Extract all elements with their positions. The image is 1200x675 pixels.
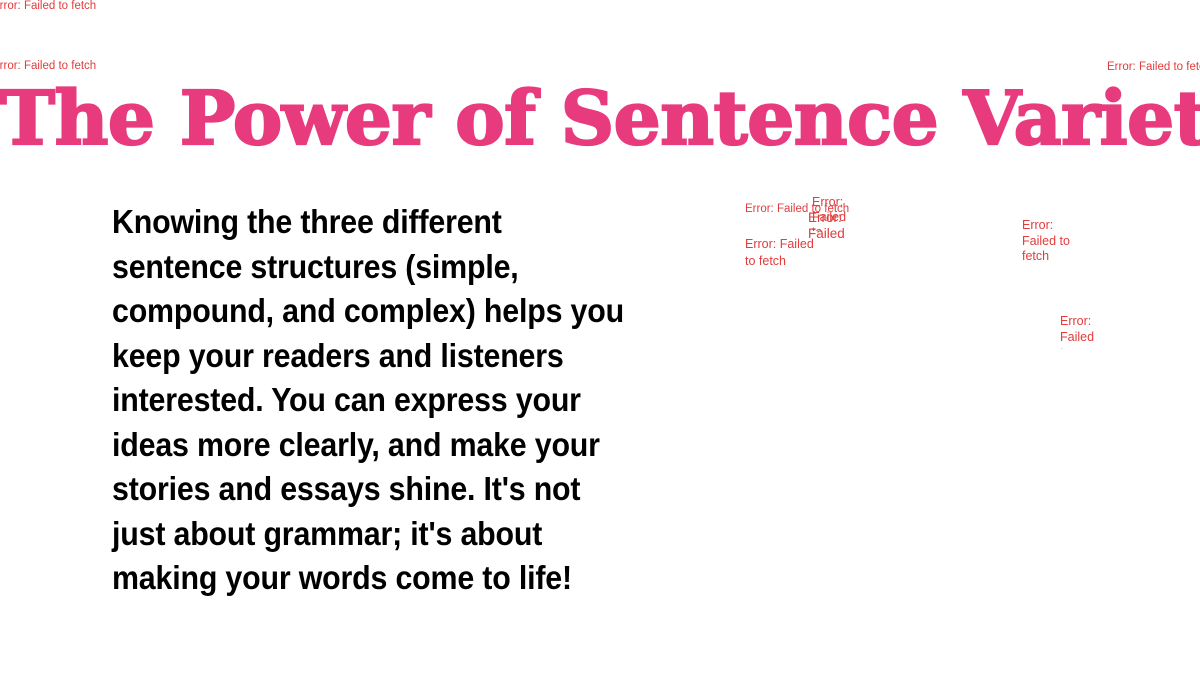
broken-image-error-right-b: Error: Failed to fetch xyxy=(1060,313,1100,349)
page-title: The Power of Sentence Variety xyxy=(0,76,1200,162)
broken-image-error-right-a: Error: Failed to fetch xyxy=(1022,218,1078,265)
broken-image-error-top-right: Error: Failed to fetch xyxy=(1107,60,1200,74)
broken-image-error-middle-d: Error: Failed to fetch xyxy=(745,236,823,269)
slide-canvas: The Power of Sentence Variety Knowing th… xyxy=(0,0,1200,675)
broken-image-error-top-left-2: Error: Failed to fetch xyxy=(0,59,122,73)
broken-image-error-middle-c: Error: Failed to fetch xyxy=(808,210,854,238)
slide-body-text: Knowing the three different sentence str… xyxy=(112,200,627,601)
broken-image-error-top-left-1: Error: Failed to fetch xyxy=(0,0,122,13)
